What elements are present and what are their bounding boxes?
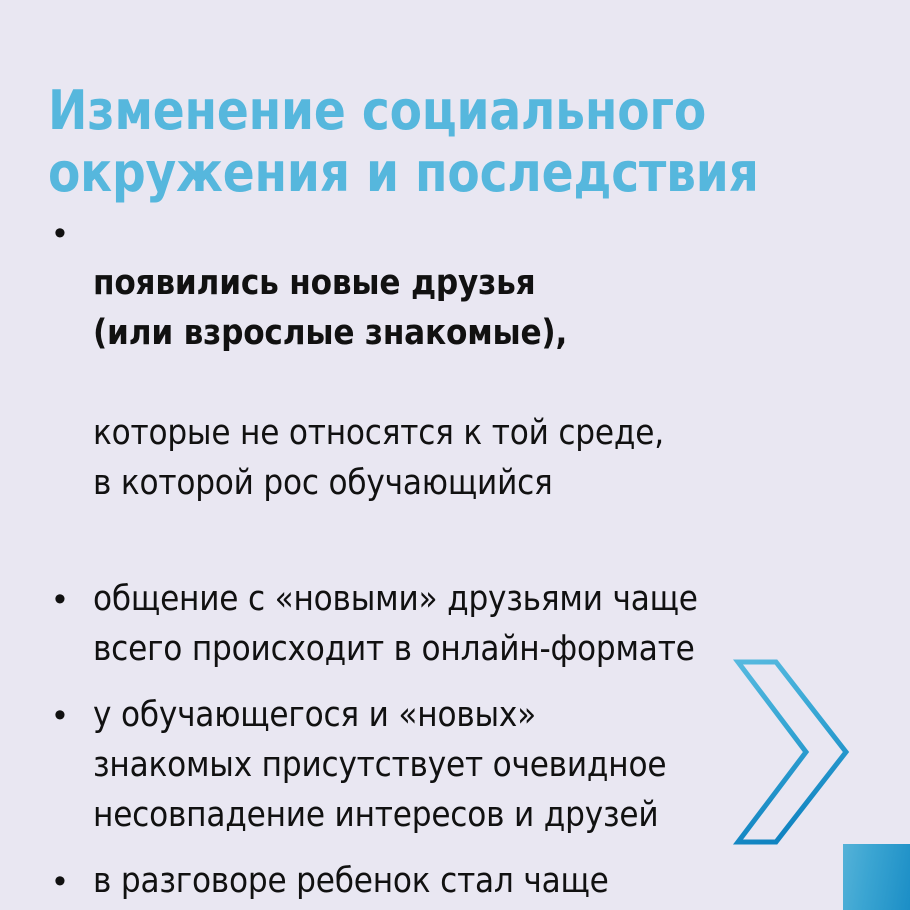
list-item-text-normal: которые не относятся к той среде, в кото… — [93, 408, 882, 508]
bullet-point-icon: • — [50, 574, 93, 624]
bullet-list: • появились новые друзья (или взрослые з… — [50, 208, 890, 910]
bullet-point-icon: • — [50, 690, 93, 740]
bullet-point-icon: • — [50, 208, 93, 258]
list-item: • появились новые друзья (или взрослые з… — [50, 208, 890, 558]
page-title: Изменение социального окружения и послед… — [48, 80, 853, 204]
list-item-text: появились новые друзья (или взрослые зна… — [93, 208, 882, 558]
list-item-text: общение с «новыми» друзьями чаще всего п… — [93, 574, 882, 674]
list-item-text: в разговоре ребенок стал чаще высказыват… — [93, 856, 882, 910]
list-item: • в разговоре ребенок стал чаще высказыв… — [50, 856, 890, 910]
list-item-text: у обучающегося и «новых» знакомых присут… — [93, 690, 882, 840]
list-item: • у обучающегося и «новых» знакомых прис… — [50, 690, 890, 840]
list-item: • общение с «новыми» друзьями чаще всего… — [50, 574, 890, 674]
slide-canvas: Изменение социального окружения и послед… — [0, 0, 910, 910]
bullet-point-icon: • — [50, 856, 93, 906]
list-item-text-bold: появились новые друзья (или взрослые зна… — [93, 258, 882, 358]
